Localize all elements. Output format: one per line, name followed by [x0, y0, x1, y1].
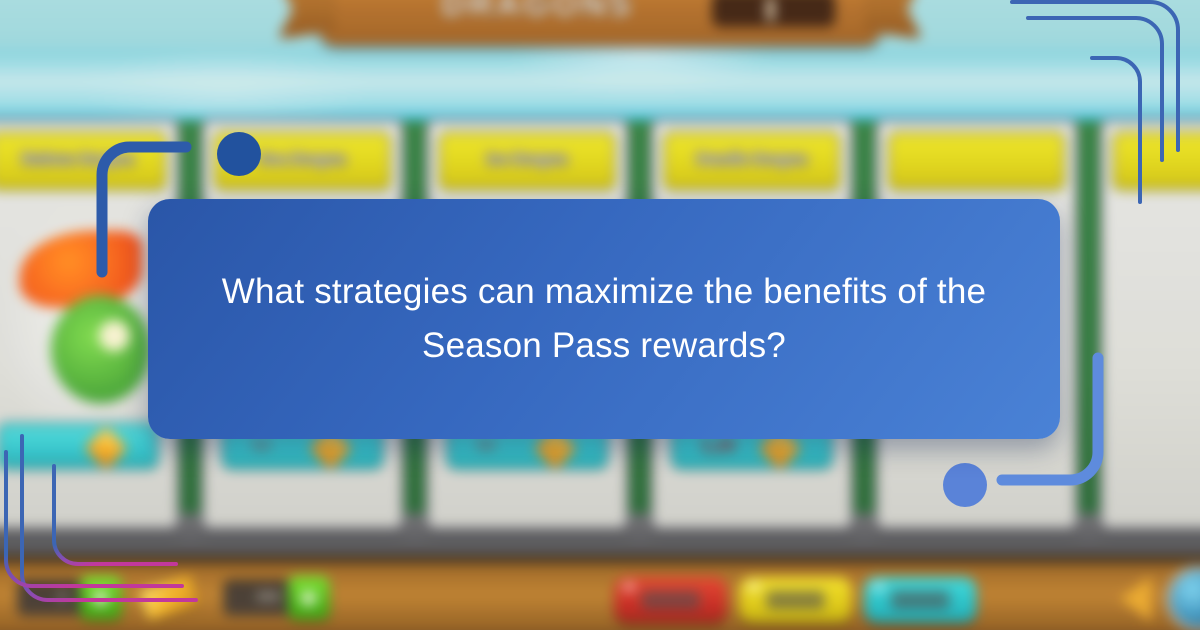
question-card: What strategies can maximize the benefit… [148, 199, 1060, 439]
top-right-corner-lines [1012, 2, 1178, 202]
question-text: What strategies can maximize the benefit… [209, 265, 999, 374]
screenshot-stage: DRAGONS Rufous Dragon [0, 0, 1200, 630]
bottom-left-corner-lines [6, 436, 196, 600]
bottom-right-circle-dot [943, 463, 987, 507]
top-left-circle-dot [217, 132, 261, 176]
